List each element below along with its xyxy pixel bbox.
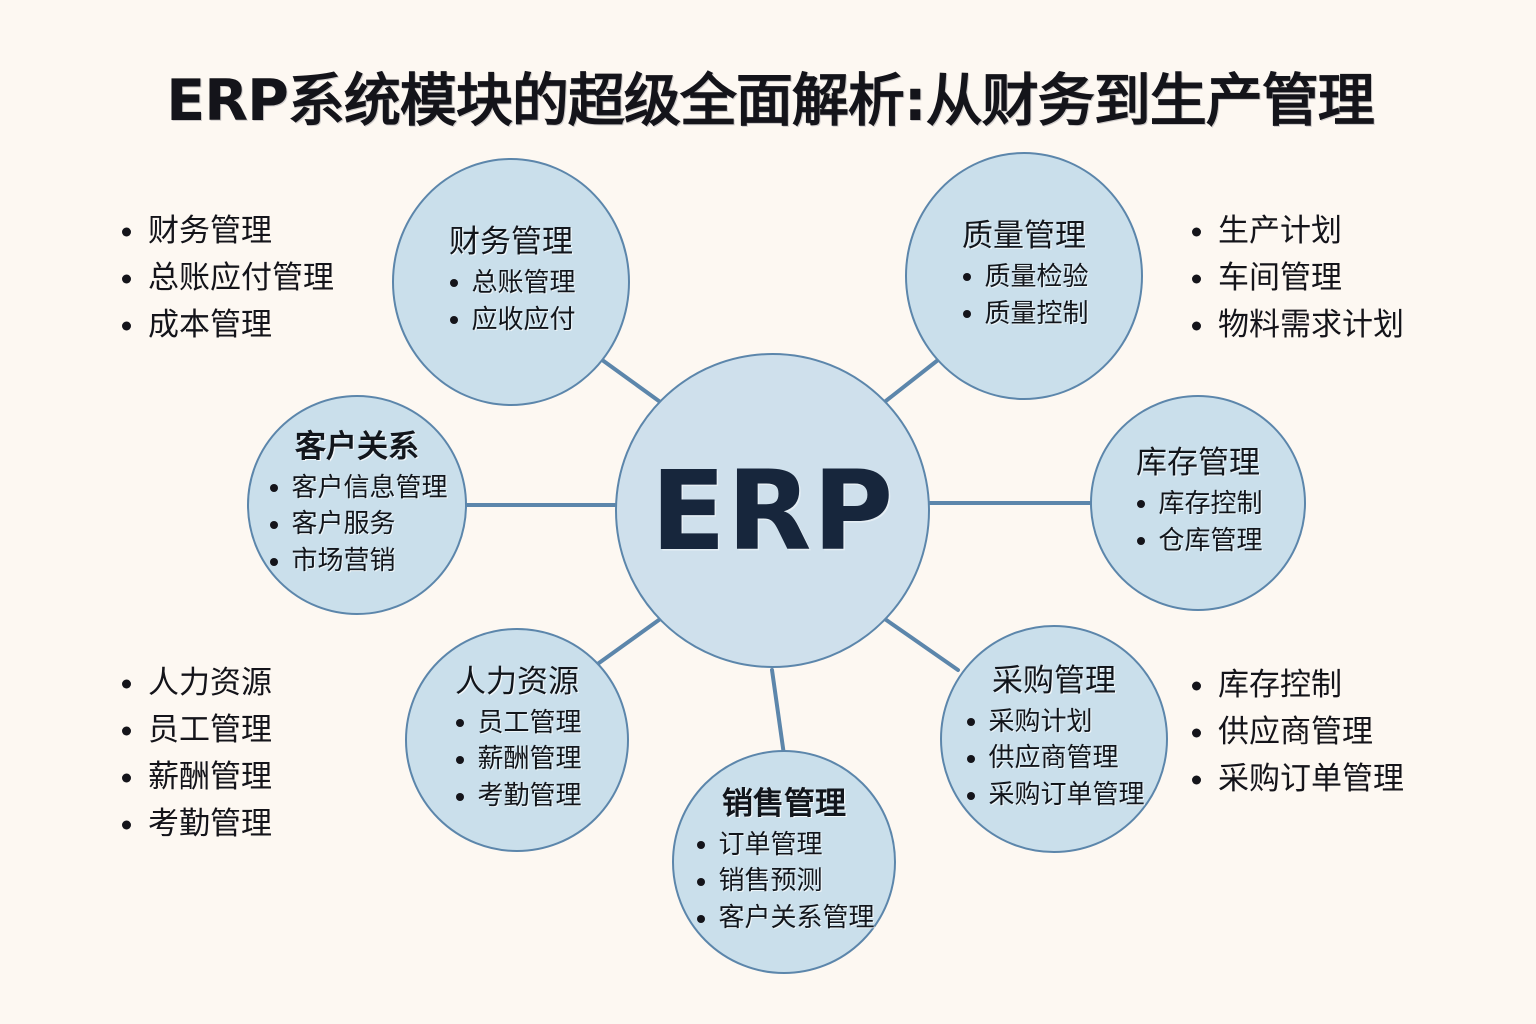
- list-item: 考勤管理: [118, 801, 272, 848]
- list-item: 客户关系管理: [693, 900, 874, 937]
- list-item: 薪酬管理: [118, 754, 272, 801]
- list-item: 员工管理: [118, 707, 272, 754]
- node-purchasing-title: 采购管理: [992, 664, 1116, 699]
- list-item: 采购订单管理: [1188, 756, 1404, 803]
- node-finance-items: 总账管理 应收应付: [446, 265, 575, 339]
- list-item: 应收应付: [446, 302, 575, 339]
- list-item: 仓库管理: [1133, 523, 1262, 560]
- list-item: 薪酬管理: [452, 741, 581, 778]
- list-item: 订单管理: [693, 827, 874, 864]
- node-erp-center[interactable]: ERP: [615, 353, 930, 668]
- node-inventory-items: 库存控制 仓库管理: [1133, 486, 1262, 560]
- hub-label: ERP: [651, 447, 894, 575]
- node-sales[interactable]: 销售管理 订单管理 销售预测 客户关系管理: [672, 750, 896, 974]
- list-item: 员工管理: [452, 705, 581, 742]
- page-title: ERP系统模块的超级全面解析:从财务到生产管理: [110, 68, 1430, 135]
- side-list-top-right: 生产计划 车间管理 物料需求计划: [1188, 208, 1404, 349]
- node-finance-title: 财务管理: [449, 225, 573, 260]
- link-center-purchasing: [882, 617, 958, 670]
- list-item: 供应商管理: [1188, 709, 1404, 756]
- node-crm-title: 客户关系: [295, 430, 419, 465]
- node-crm-items: 客户信息管理 客户服务 市场营销: [266, 470, 447, 581]
- list-item: 采购订单管理: [963, 777, 1144, 814]
- list-item: 市场营销: [266, 543, 447, 580]
- list-item: 供应商管理: [963, 740, 1144, 777]
- list-item: 总账管理: [446, 265, 575, 302]
- list-item: 车间管理: [1188, 255, 1404, 302]
- node-hr-items: 员工管理 薪酬管理 考勤管理: [452, 705, 581, 816]
- list-item: 库存控制: [1133, 486, 1262, 523]
- node-inventory[interactable]: 库存管理 库存控制 仓库管理: [1090, 395, 1306, 611]
- node-hr-title: 人力资源: [455, 665, 579, 700]
- list-item: 总账应付管理: [118, 255, 334, 302]
- node-inventory-title: 库存管理: [1136, 446, 1260, 481]
- link-center-sales: [772, 670, 784, 755]
- side-list-bottom-right: 库存控制 供应商管理 采购订单管理: [1188, 662, 1404, 803]
- node-finance[interactable]: 财务管理 总账管理 应收应付: [392, 158, 630, 406]
- list-item: 考勤管理: [452, 778, 581, 815]
- list-item: 人力资源: [118, 660, 272, 707]
- list-item: 客户服务: [266, 506, 447, 543]
- node-sales-items: 订单管理 销售预测 客户关系管理: [693, 827, 874, 938]
- list-item: 物料需求计划: [1188, 302, 1404, 349]
- side-list-bottom-left: 人力资源 员工管理 薪酬管理 考勤管理: [118, 660, 272, 848]
- list-item: 客户信息管理: [266, 470, 447, 507]
- node-crm[interactable]: 客户关系 客户信息管理 客户服务 市场营销: [247, 395, 467, 615]
- list-item: 质量检验: [959, 259, 1088, 296]
- node-hr[interactable]: 人力资源 员工管理 薪酬管理 考勤管理: [405, 628, 629, 852]
- node-purchasing[interactable]: 采购管理 采购计划 供应商管理 采购订单管理: [940, 625, 1168, 853]
- list-item: 财务管理: [118, 208, 334, 255]
- list-item: 成本管理: [118, 302, 334, 349]
- list-item: 生产计划: [1188, 208, 1404, 255]
- list-item: 销售预测: [693, 863, 874, 900]
- node-purchasing-items: 采购计划 供应商管理 采购订单管理: [963, 704, 1144, 815]
- diagram-canvas: ERP系统模块的超级全面解析:从财务到生产管理 ERP 财务管理 总账管理 应收…: [0, 0, 1536, 1024]
- node-sales-title: 销售管理: [722, 787, 846, 822]
- node-quality-items: 质量检验 质量控制: [959, 259, 1088, 333]
- link-center-hr: [592, 617, 663, 668]
- side-list-top-left: 财务管理 总账应付管理 成本管理: [118, 208, 334, 349]
- list-item: 库存控制: [1188, 662, 1404, 709]
- list-item: 采购计划: [963, 704, 1144, 741]
- list-item: 质量控制: [959, 296, 1088, 333]
- node-quality-title: 质量管理: [962, 219, 1086, 254]
- node-quality[interactable]: 质量管理 质量检验 质量控制: [905, 152, 1143, 400]
